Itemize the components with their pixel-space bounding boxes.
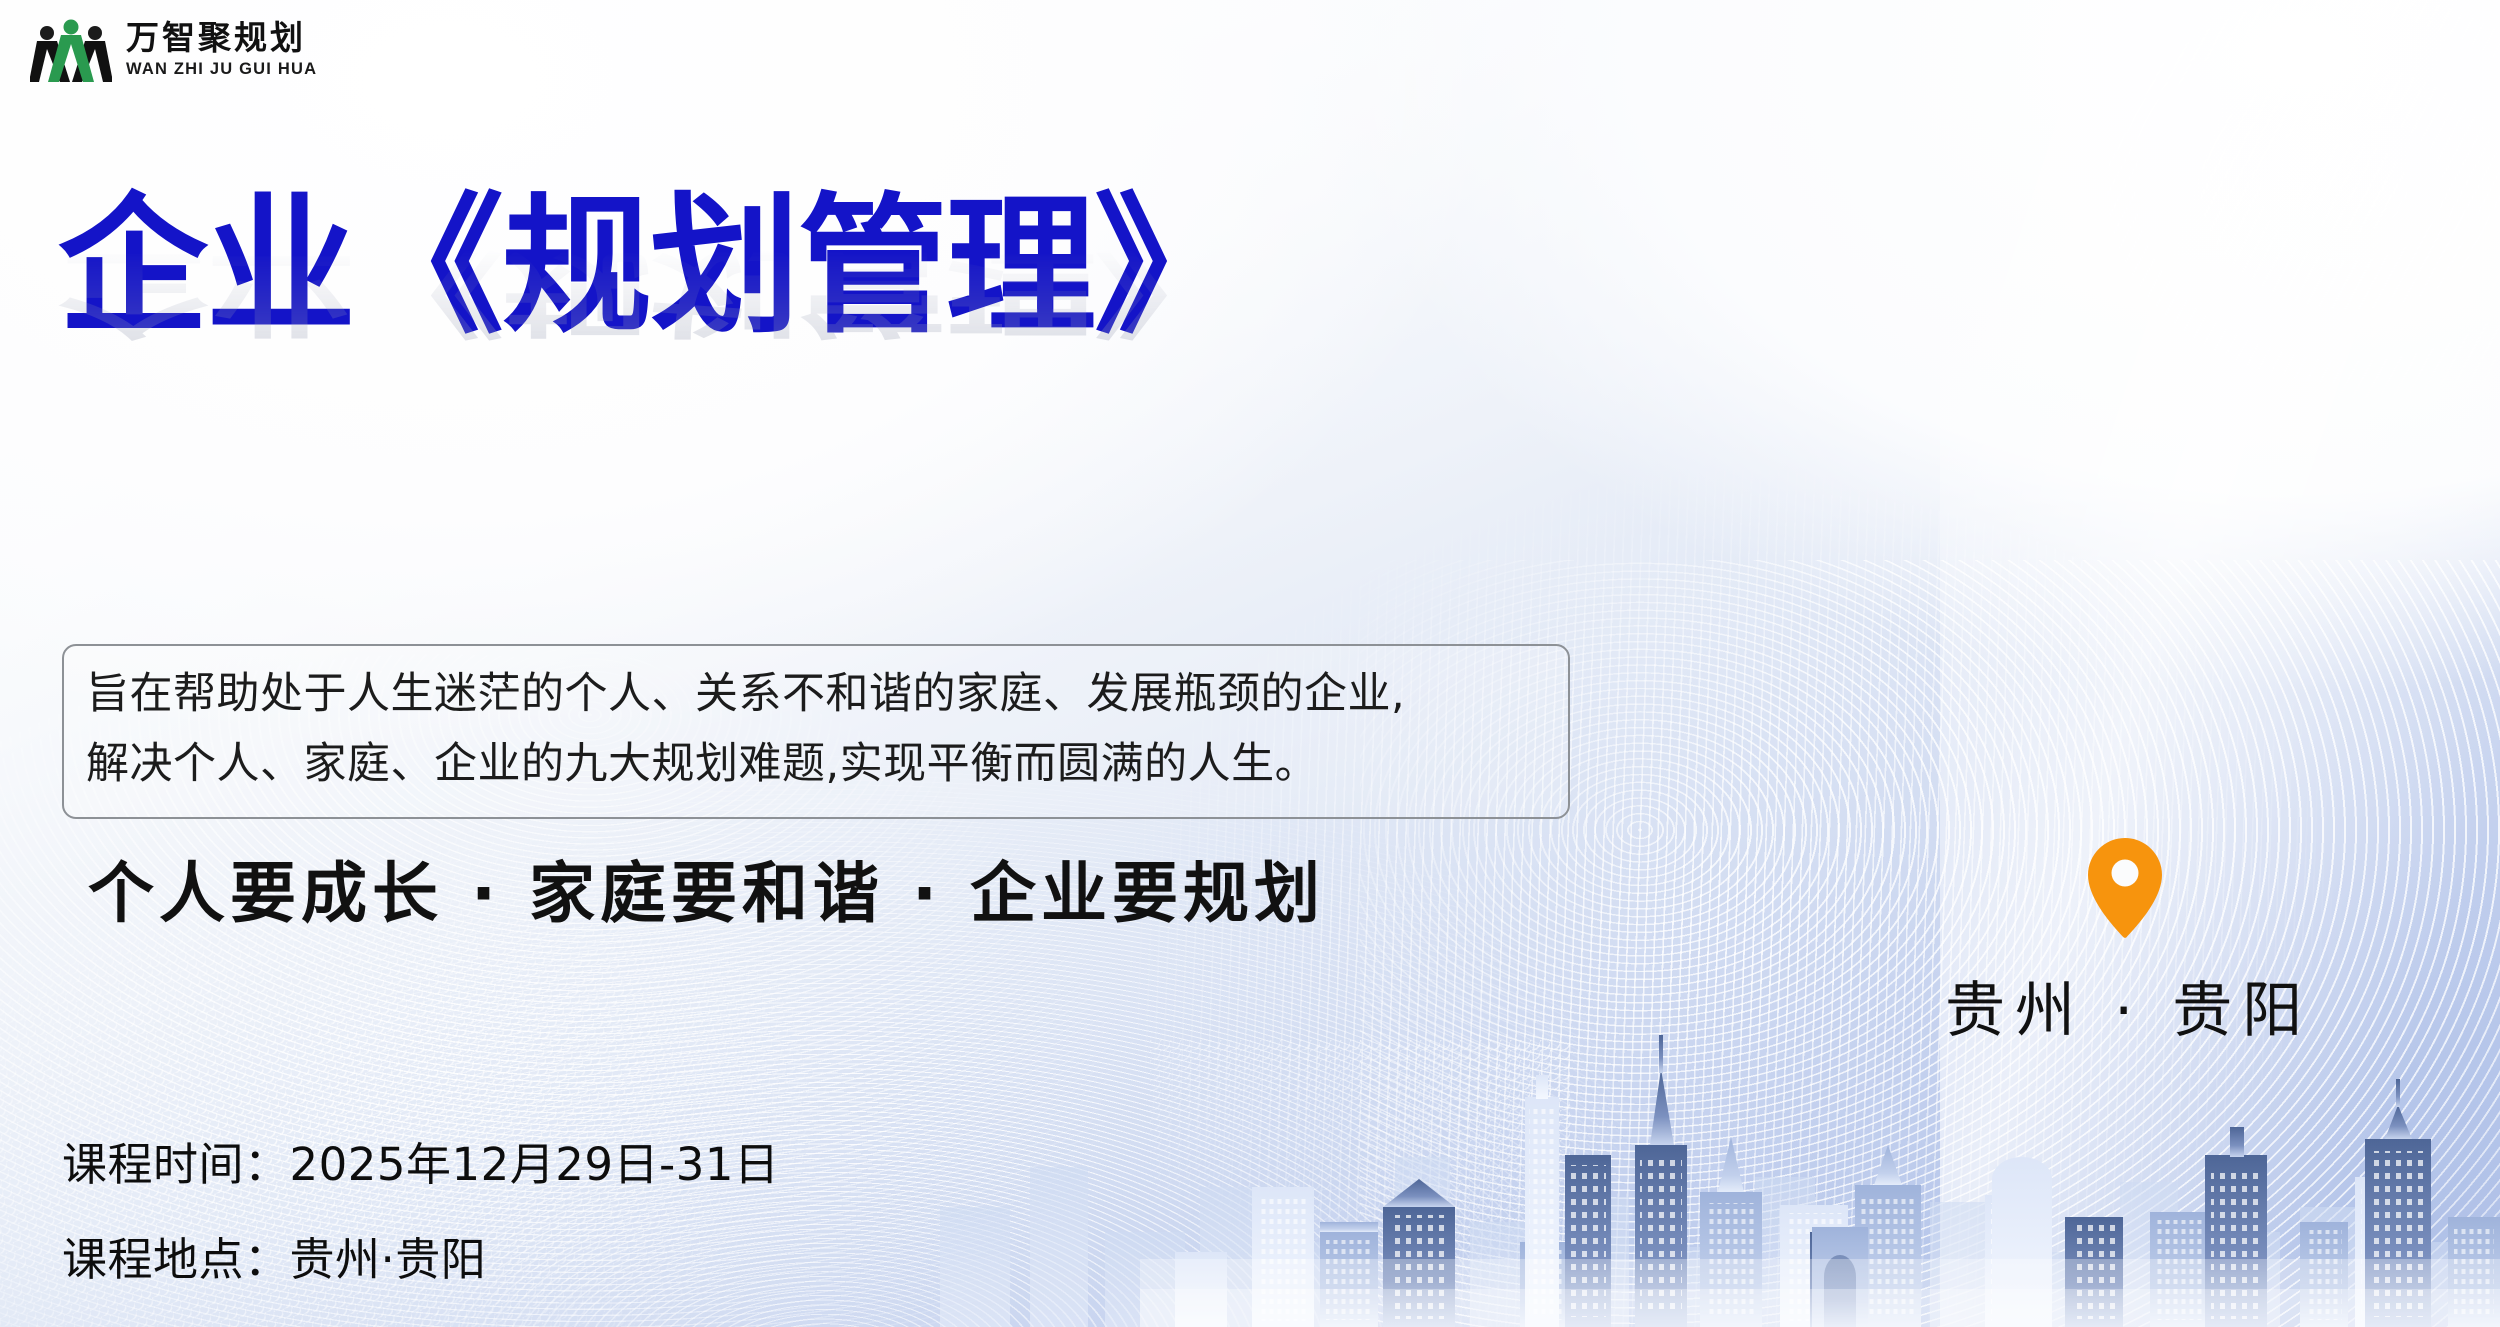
description-box: 旨在帮助处于人生迷茫的个人、关系不和谐的家庭、发展瓶颈的企业, 解决个人、家庭、… xyxy=(62,644,1570,819)
course-meta: 课程时间：2025年12月29日-31日 课程地点：贵州·贵阳 xyxy=(62,1128,780,1288)
promo-banner: 万智聚规划 WAN ZHI JU GUI HUA 企业《规划管理》 企业《规划管… xyxy=(0,0,2500,1327)
course-place: 课程地点：贵州·贵阳 xyxy=(62,1223,780,1288)
three-people-logo-icon xyxy=(30,16,112,84)
brand-wordmark: 万智聚规划 WAN ZHI JU GUI HUA xyxy=(126,23,317,78)
brand-name-cn: 万智聚规划 xyxy=(126,23,317,56)
map-pin-icon xyxy=(2086,836,2164,940)
description-line-1: 旨在帮助处于人生迷茫的个人、关系不和谐的家庭、发展瓶颈的企业, xyxy=(86,660,1546,730)
city-skyline-front xyxy=(1140,1027,2500,1327)
wave-mesh-top-right xyxy=(1820,0,2500,560)
page-title-reflection: 企业《规划管理》 xyxy=(58,242,1242,342)
hero-title-block: 企业《规划管理》 企业《规划管理》 xyxy=(58,186,1242,504)
description-line-2: 解决个人、家庭、企业的九大规划难题,实现平衡而圆满的人生。 xyxy=(86,730,1546,800)
location-block: 贵州 · 贵阳 xyxy=(1945,836,2305,1049)
brand-name-en: WAN ZHI JU GUI HUA xyxy=(126,61,317,78)
tagline: 个人要成长 · 家庭要和谐 · 企业要规划 xyxy=(88,840,1325,936)
location-label: 贵州 · 贵阳 xyxy=(1945,962,2305,1049)
brand-logo[interactable]: 万智聚规划 WAN ZHI JU GUI HUA xyxy=(30,16,317,84)
course-time: 课程时间：2025年12月29日-31日 xyxy=(62,1128,780,1193)
